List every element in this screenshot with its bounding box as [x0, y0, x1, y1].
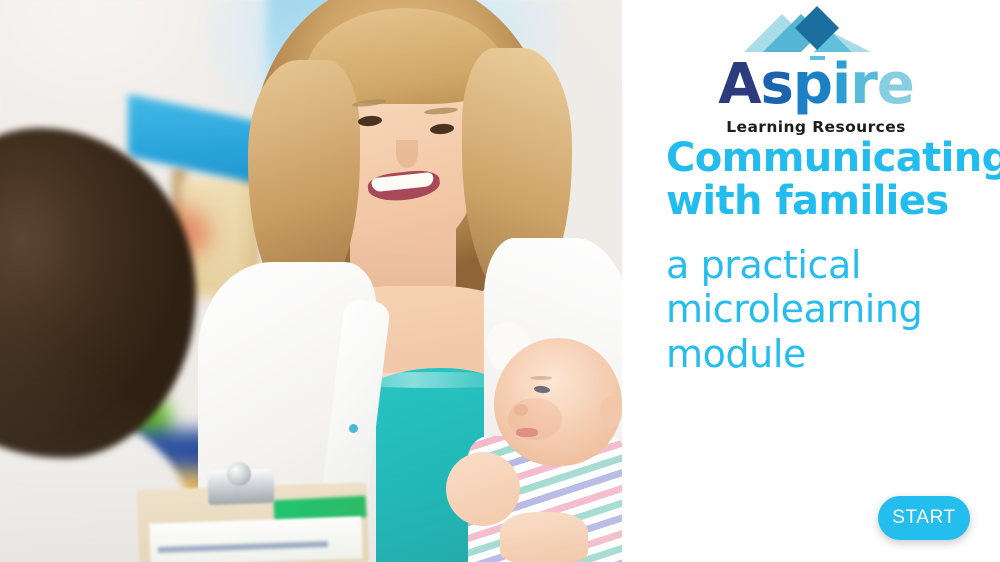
hero-photo [0, 0, 622, 562]
baby-ear [600, 396, 622, 428]
page-subtitle-line-1: a practical [666, 243, 966, 287]
page-title: Communicating with families [666, 137, 996, 223]
page-subtitle-line-2: microlearning [666, 287, 966, 331]
page-subtitle-line-3: module [666, 332, 966, 376]
wordmark-letter-i: i [832, 52, 850, 117]
baby-hand [500, 512, 588, 562]
content-panel: Aspire Learning Resources Communicating … [622, 0, 1000, 562]
logo-tagline: Learning Resources [656, 118, 976, 136]
baby-nose [514, 404, 528, 416]
wordmark-letter-r: r [850, 52, 877, 117]
educator-cardigan-button [349, 424, 358, 433]
clipboard-clip-ring [227, 462, 251, 486]
title-slide: Aspire Learning Resources Communicating … [0, 0, 1000, 562]
baby-mouth [516, 428, 538, 437]
aspire-logo: Aspire Learning Resources [656, 6, 976, 136]
aspire-wordmark: Aspire [656, 60, 976, 110]
educator-nose [396, 140, 418, 168]
page-title-line-1: Communicating [666, 137, 996, 180]
wordmark-letter-a: A [718, 52, 760, 117]
start-button[interactable]: START [878, 496, 970, 540]
page-subtitle: a practical microlearning module [666, 243, 966, 376]
wordmark-letter-p: p [793, 52, 832, 117]
wordmark-letter-e: e [877, 52, 914, 117]
baby-arm [446, 452, 520, 526]
baby-eyebrow [530, 376, 552, 380]
page-title-line-2: with families [666, 180, 996, 223]
clipboard-paper [149, 516, 362, 562]
educator-teeth [371, 172, 434, 192]
wordmark-letter-s: s [761, 52, 793, 117]
